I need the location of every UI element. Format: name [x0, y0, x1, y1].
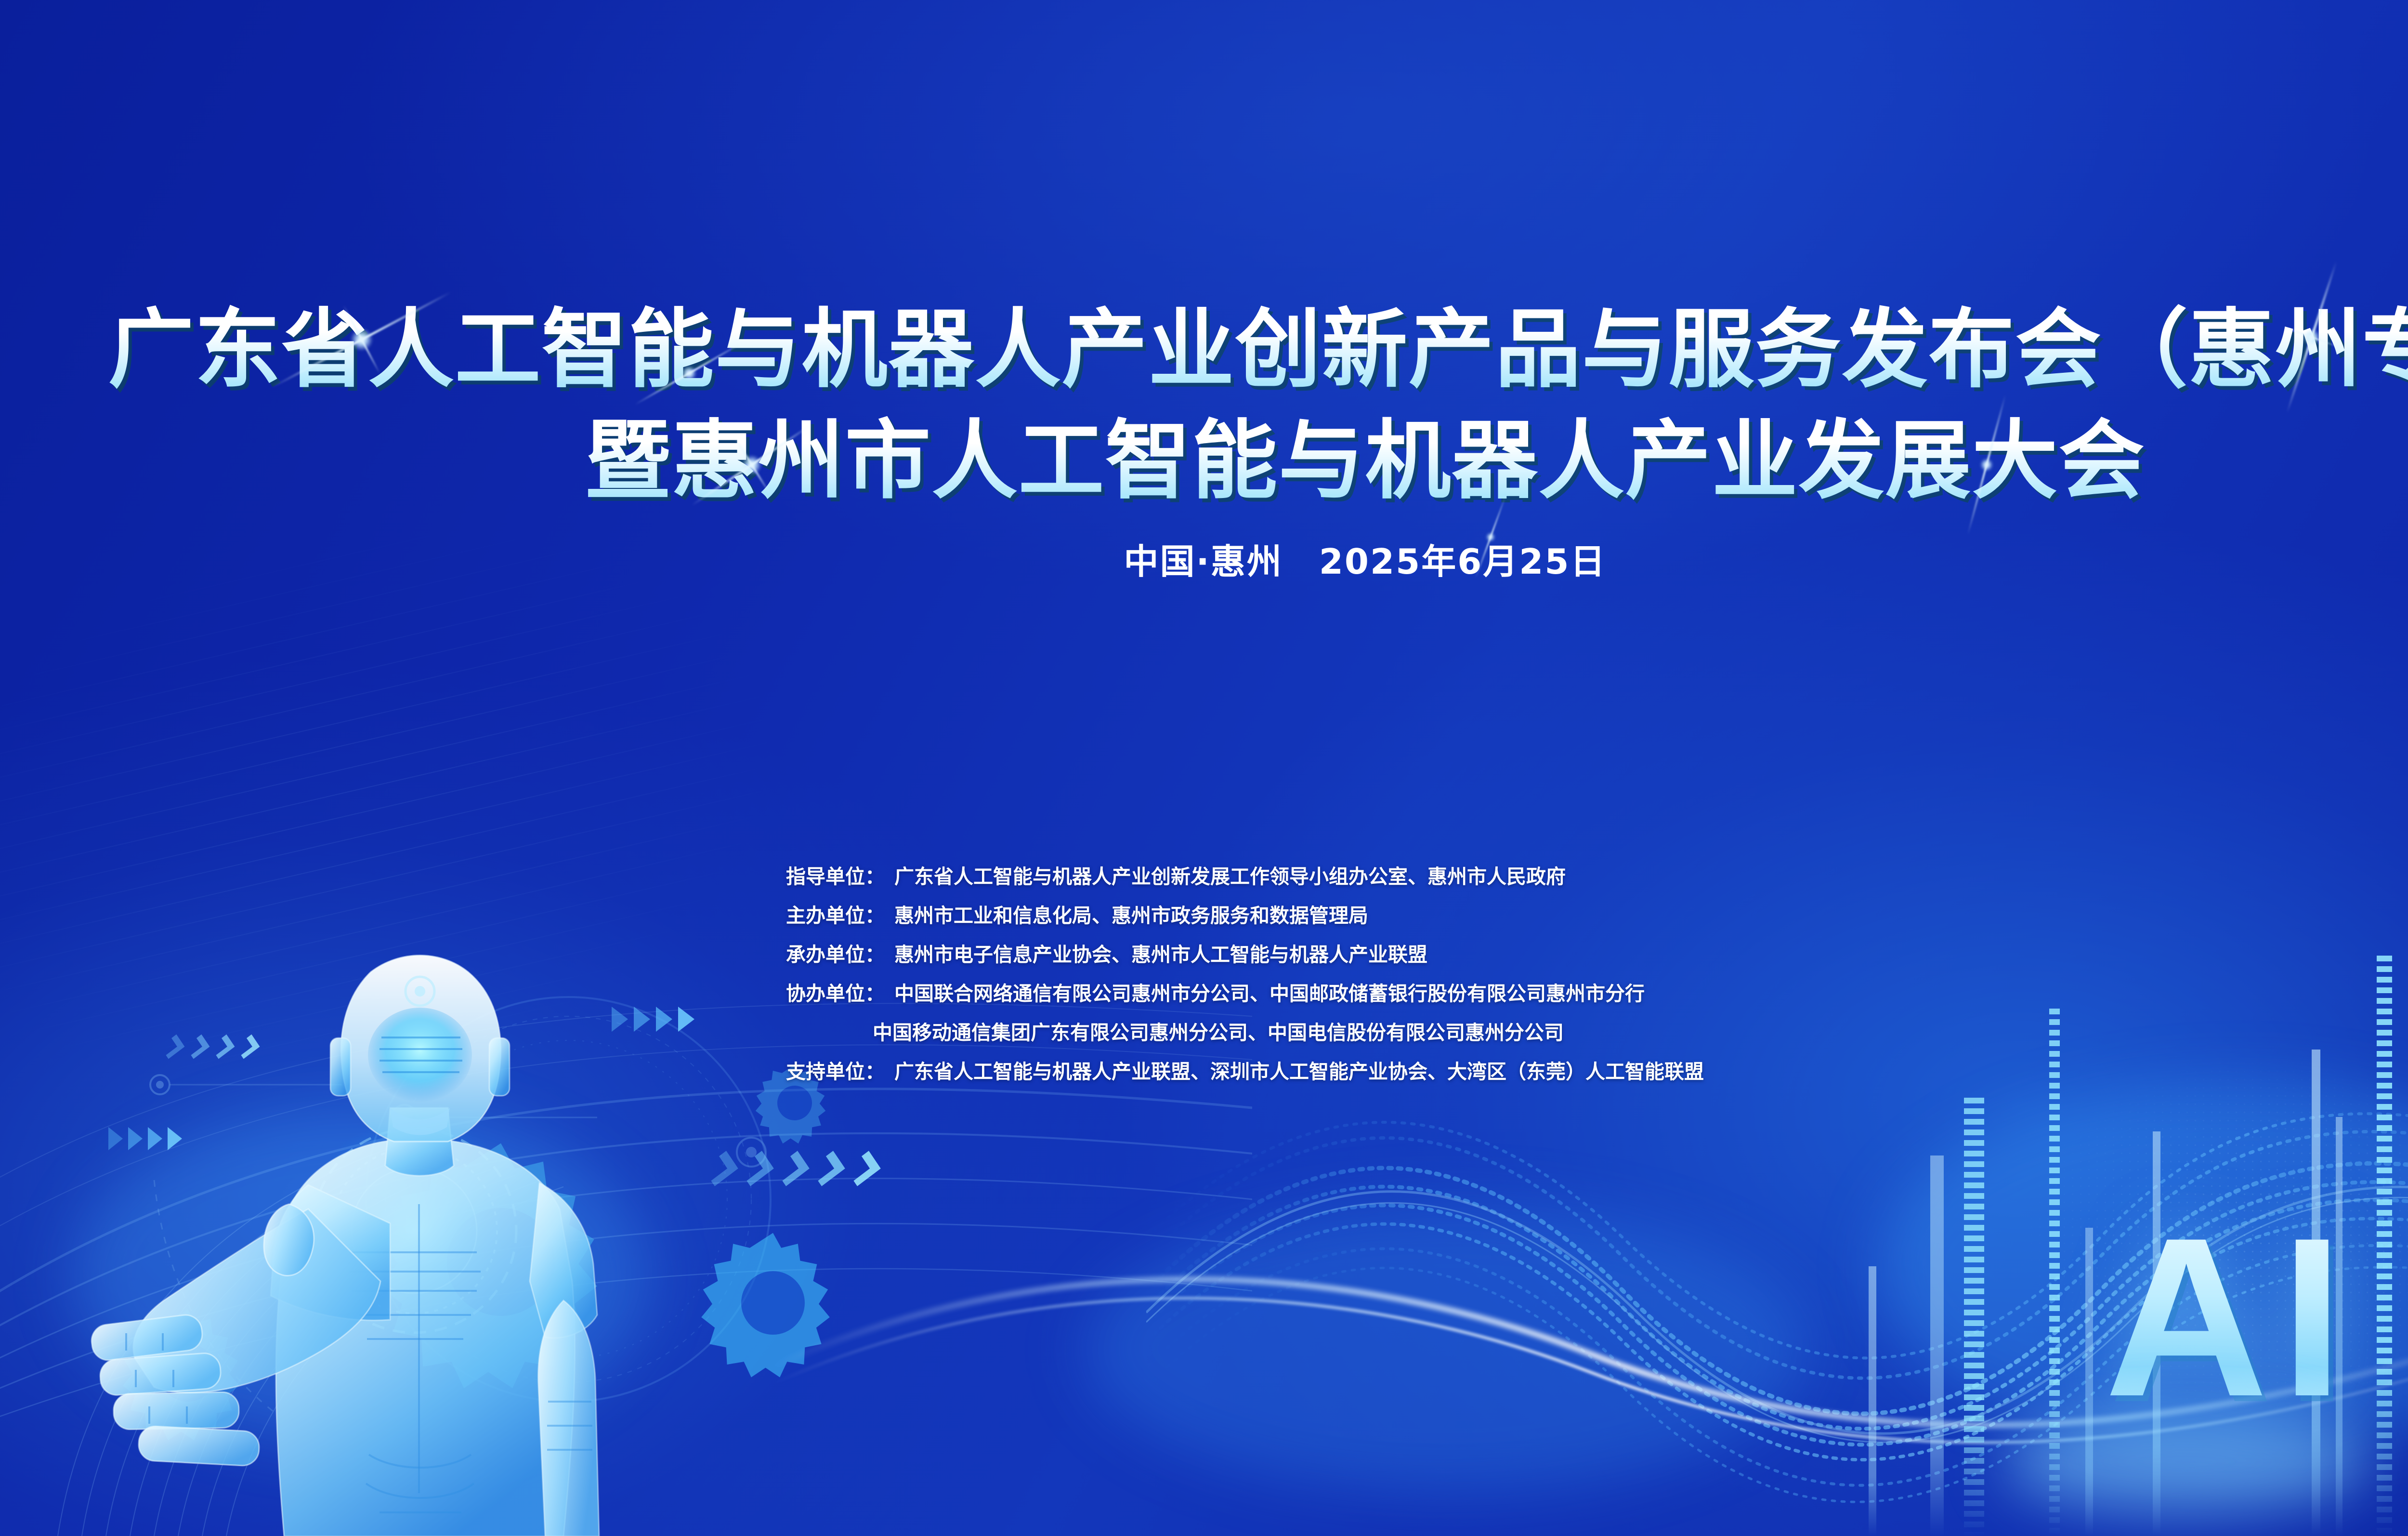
organizer-value: 中国移动通信集团广东有限公司惠州分公司、中国电信股份有限公司惠州分公司	[873, 1023, 1564, 1043]
ai-logo-underglow	[2003, 1411, 2369, 1512]
eq-bar	[2085, 1228, 2093, 1536]
curved-line-bundle	[29, 987, 872, 1536]
gear-large-icon	[366, 1127, 636, 1397]
tech-rings	[327, 973, 809, 1455]
organizer-row: 支持单位：广东省人工智能与机器人产业联盟、深圳市人工智能产业协会、大湾区（东莞）…	[786, 1062, 1704, 1082]
chevron-cluster-upper	[612, 1007, 700, 1032]
conference-banner: AI	[0, 0, 2408, 1536]
organizer-value: 惠州市电子信息产业协会、惠州市人工智能与机器人产业联盟	[894, 945, 1427, 965]
eq-bar	[2049, 1009, 2060, 1536]
chevron-arrow-row-top	[164, 1038, 264, 1055]
title-line-1: 广东省人工智能与机器人产业创新产品与服务发布会（惠州专场）	[0, 294, 2408, 405]
title-line-2: 暨惠州市人工智能与机器人产业发展大会	[0, 405, 2408, 516]
eq-bar	[2336, 1117, 2343, 1536]
eq-bar	[1930, 1155, 1944, 1536]
chevron-cluster-left	[108, 1127, 187, 1150]
organizer-value: 广东省人工智能与机器人产业联盟、深圳市人工智能产业协会、大湾区（东莞）人工智能联…	[894, 1062, 1704, 1082]
organizer-row: 协办单位：中国联合网络通信有限公司惠州市分公司、中国邮政储蓄银行股份有限公司惠州…	[786, 984, 1704, 1004]
gear-small-icon	[116, 1300, 260, 1445]
organizer-value: 中国联合网络通信有限公司惠州市分公司、中国邮政储蓄银行股份有限公司惠州市分行	[894, 984, 1645, 1004]
organizer-row: 指导单位：广东省人工智能与机器人产业创新发展工作领导小组办公室、惠州市人民政府	[786, 867, 1704, 887]
glow-pool-center	[1084, 1204, 1806, 1493]
glow-pool-right	[1878, 1084, 2408, 1450]
organizer-value: 广东省人工智能与机器人产业创新发展工作领导小组办公室、惠州市人民政府	[894, 867, 1566, 887]
equalizer-group	[1859, 939, 2408, 1536]
dot-texture-panel	[1946, 1002, 2408, 1474]
organizer-label: 协办单位：	[786, 984, 885, 1004]
eq-bar	[1869, 1266, 1876, 1536]
organizer-row: 承办单位：惠州市电子信息产业协会、惠州市人工智能与机器人产业联盟	[786, 945, 1704, 965]
organizer-row-continuation: 中国移动通信集团广东有限公司惠州分公司、中国电信股份有限公司惠州分公司	[786, 1023, 1704, 1043]
chevron-arrow-row-main	[708, 1156, 886, 1181]
organizer-value: 惠州市工业和信息化局、惠州市政务服务和数据管理局	[894, 906, 1368, 926]
organizer-label: 主办单位：	[786, 906, 885, 926]
node-markers	[135, 1021, 713, 1455]
humanoid-robot-figure	[82, 915, 713, 1536]
light-streak	[771, 1195, 2408, 1493]
organizer-row: 主办单位：惠州市工业和信息化局、惠州市政务服务和数据管理局	[786, 906, 1704, 926]
ai-logo-text: AI	[2105, 1204, 2356, 1431]
eq-bar	[2153, 1131, 2160, 1536]
glow-pool-left	[72, 1108, 650, 1445]
waveform-ribbon-main	[1146, 1031, 2408, 1536]
title-block: 广东省人工智能与机器人产业创新产品与服务发布会（惠州专场） 暨惠州市人工智能与机…	[0, 294, 2408, 584]
organizer-label: 承办单位：	[786, 945, 885, 965]
eq-bar	[2312, 1050, 2320, 1536]
eq-bar	[1964, 1098, 1984, 1536]
organizer-label: 指导单位：	[786, 867, 885, 887]
subtitle-location-date: 中国·惠州 2025年6月25日	[0, 533, 2408, 584]
gear-medium-icon	[694, 1223, 852, 1382]
organizer-list: 指导单位：广东省人工智能与机器人产业创新发展工作领导小组办公室、惠州市人民政府 …	[786, 867, 1704, 1082]
eq-bar	[2377, 956, 2392, 1536]
background-decoration-layer: AI	[0, 0, 2408, 1536]
organizer-label: 支持单位：	[786, 1062, 885, 1082]
